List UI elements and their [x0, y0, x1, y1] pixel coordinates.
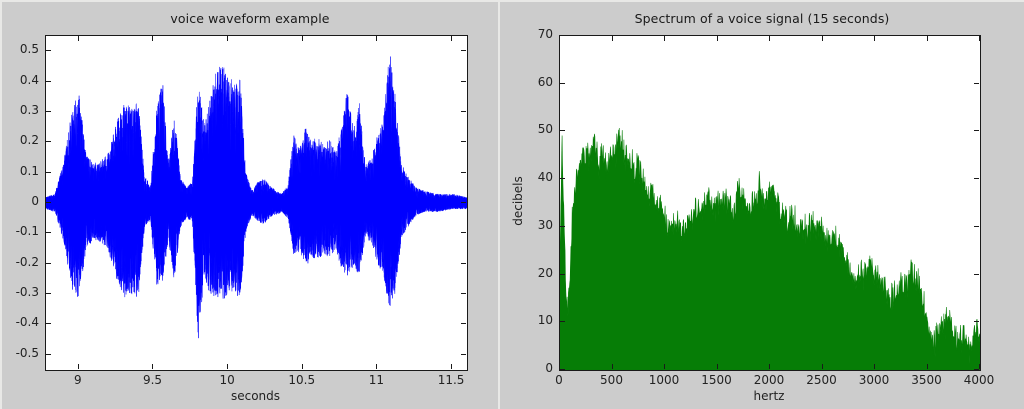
x-tick	[979, 36, 980, 41]
x-tick	[979, 364, 980, 369]
x-tick	[822, 364, 823, 369]
x-tick-label: 9.5	[112, 373, 192, 387]
y-tick	[974, 130, 979, 131]
x-tick	[769, 364, 770, 369]
x-tick	[874, 364, 875, 369]
x-tick	[376, 364, 377, 369]
y-tick	[560, 321, 565, 322]
y-tick	[461, 354, 466, 355]
y-tick	[560, 83, 565, 84]
y-tick	[560, 178, 565, 179]
x-tick	[152, 36, 153, 41]
x-tick	[717, 364, 718, 369]
y-tick	[560, 130, 565, 131]
figure-voice-spectrum: Spectrum of a voice signal (15 seconds) …	[498, 0, 1024, 409]
x-tick	[927, 36, 928, 41]
y-tick	[461, 232, 466, 233]
y-tick	[461, 263, 466, 264]
y-tick-label: -0.3	[0, 285, 39, 299]
spectrum-yaxis-label: decibels	[511, 151, 525, 251]
x-tick	[717, 36, 718, 41]
x-tick	[78, 36, 79, 41]
y-tick	[974, 369, 979, 370]
y-tick-label: 0.5	[0, 42, 39, 56]
y-tick	[461, 81, 466, 82]
x-tick	[78, 364, 79, 369]
x-tick	[227, 364, 228, 369]
y-tick	[461, 50, 466, 51]
figure-voice-waveform: voice waveform example 0.50.40.30.20.10-…	[0, 0, 498, 409]
x-tick	[302, 364, 303, 369]
y-tick-label: -0.4	[0, 315, 39, 329]
y-tick	[560, 369, 565, 370]
x-tick	[927, 364, 928, 369]
y-tick	[974, 83, 979, 84]
spectrum-area	[560, 36, 980, 370]
y-tick	[974, 226, 979, 227]
y-tick-label: 50	[489, 122, 553, 136]
spectrum-title: Spectrum of a voice signal (15 seconds)	[500, 11, 1024, 26]
y-tick-label: -0.2	[0, 255, 39, 269]
x-tick	[769, 36, 770, 41]
y-tick-label: -0.1	[0, 224, 39, 238]
y-tick	[46, 50, 51, 51]
x-tick-label: 10	[187, 373, 267, 387]
y-tick	[46, 111, 51, 112]
x-tick	[822, 36, 823, 41]
x-tick-label: 10.5	[262, 373, 342, 387]
y-tick	[461, 202, 466, 203]
y-tick-label: -0.5	[0, 346, 39, 360]
x-tick-label: 9	[38, 373, 118, 387]
y-tick-label: 0	[0, 194, 39, 208]
y-tick	[461, 293, 466, 294]
y-tick	[46, 354, 51, 355]
x-tick	[664, 36, 665, 41]
x-tick	[451, 36, 452, 41]
x-tick-label: 11.5	[411, 373, 491, 387]
y-tick	[560, 35, 565, 36]
y-tick	[461, 323, 466, 324]
y-tick-label: 70	[489, 27, 553, 41]
y-tick-label: 0.1	[0, 164, 39, 178]
x-tick	[612, 364, 613, 369]
waveform-axes	[45, 35, 468, 371]
spectrum-axes	[559, 35, 981, 371]
waveform-title: voice waveform example	[2, 11, 498, 26]
y-tick	[461, 172, 466, 173]
y-tick	[461, 141, 466, 142]
y-tick	[46, 81, 51, 82]
y-tick	[974, 274, 979, 275]
y-tick-label: 0.2	[0, 133, 39, 147]
y-tick-label: 20	[489, 266, 553, 280]
spectrum-xaxis-label: hertz	[559, 389, 979, 403]
x-tick	[664, 364, 665, 369]
y-tick	[46, 293, 51, 294]
x-tick	[376, 36, 377, 41]
x-tick	[227, 36, 228, 41]
y-tick-label: 60	[489, 75, 553, 89]
y-tick-label: 10	[489, 313, 553, 327]
y-tick	[560, 274, 565, 275]
y-tick	[46, 141, 51, 142]
y-tick	[974, 35, 979, 36]
figure-canvas: voice waveform example 0.50.40.30.20.10-…	[0, 0, 1024, 409]
y-tick	[46, 172, 51, 173]
waveform-trace	[46, 36, 467, 370]
y-tick	[560, 226, 565, 227]
y-tick-label: 0.3	[0, 103, 39, 117]
x-tick	[874, 36, 875, 41]
y-tick	[974, 321, 979, 322]
x-tick-label: 4000	[939, 373, 1019, 387]
y-tick	[461, 111, 466, 112]
y-tick	[46, 232, 51, 233]
x-tick	[451, 364, 452, 369]
x-tick	[612, 36, 613, 41]
y-tick	[46, 263, 51, 264]
x-tick-label: 11	[336, 373, 416, 387]
y-tick	[974, 178, 979, 179]
y-tick	[46, 323, 51, 324]
x-tick	[302, 36, 303, 41]
waveform-xaxis-label: seconds	[45, 389, 466, 403]
x-tick	[559, 36, 560, 41]
y-tick-label: 0.4	[0, 73, 39, 87]
x-tick	[152, 364, 153, 369]
y-tick	[46, 202, 51, 203]
